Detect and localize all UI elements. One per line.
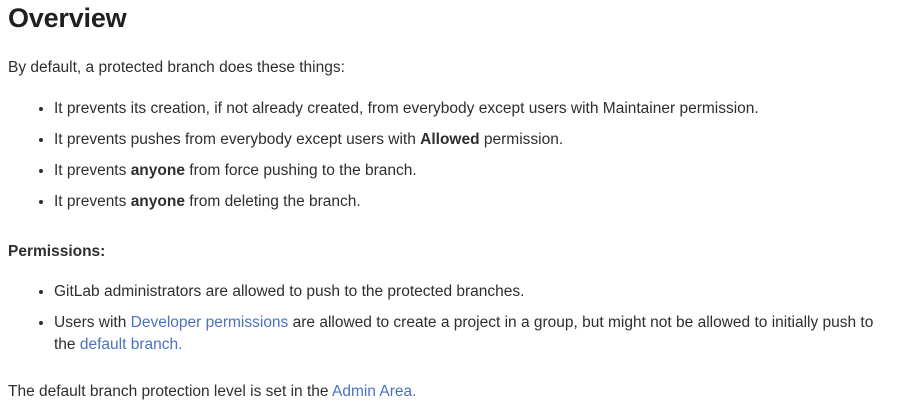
permissions-bullet-list: GitLab administrators are allowed to pus… bbox=[8, 281, 891, 356]
list-item-text-tail: from force pushing to the branch. bbox=[185, 162, 417, 179]
list-item-emphasis: anyone bbox=[131, 193, 185, 210]
list-item-text: Users with bbox=[54, 314, 131, 331]
closing-paragraph: The default branch protection level is s… bbox=[8, 381, 891, 403]
overview-bullet-list: It prevents its creation, if not already… bbox=[8, 98, 891, 213]
admin-area-link[interactable]: Admin Area. bbox=[332, 383, 416, 400]
list-item-text: It prevents bbox=[54, 162, 131, 179]
list-item-text: It prevents bbox=[54, 193, 131, 210]
default-branch-link[interactable]: default branch. bbox=[80, 336, 183, 353]
page-title: Overview bbox=[8, 0, 891, 34]
permissions-heading: Permissions: bbox=[8, 241, 891, 263]
list-item-text-tail: permission. bbox=[480, 131, 564, 148]
list-item: It prevents anyone from force pushing to… bbox=[8, 160, 891, 182]
list-item-text: It prevents its creation, if not already… bbox=[54, 100, 759, 117]
list-item-text: It prevents pushes from everybody except… bbox=[54, 131, 420, 148]
list-item: It prevents its creation, if not already… bbox=[8, 98, 891, 120]
list-item-text-tail: from deleting the branch. bbox=[185, 193, 361, 210]
document-page: Overview By default, a protected branch … bbox=[0, 0, 899, 413]
list-item: GitLab administrators are allowed to pus… bbox=[8, 281, 891, 303]
developer-permissions-link[interactable]: Developer permissions bbox=[131, 314, 289, 331]
intro-paragraph: By default, a protected branch does thes… bbox=[8, 57, 891, 79]
list-item-emphasis: Allowed bbox=[420, 131, 479, 148]
list-item: It prevents anyone from deleting the bra… bbox=[8, 191, 891, 213]
closing-text: The default branch protection level is s… bbox=[8, 383, 332, 400]
list-item: It prevents pushes from everybody except… bbox=[8, 129, 891, 151]
list-item-emphasis: anyone bbox=[131, 162, 185, 179]
list-item-text: GitLab administrators are allowed to pus… bbox=[54, 283, 524, 300]
list-item: Users with Developer permissions are all… bbox=[8, 312, 891, 356]
